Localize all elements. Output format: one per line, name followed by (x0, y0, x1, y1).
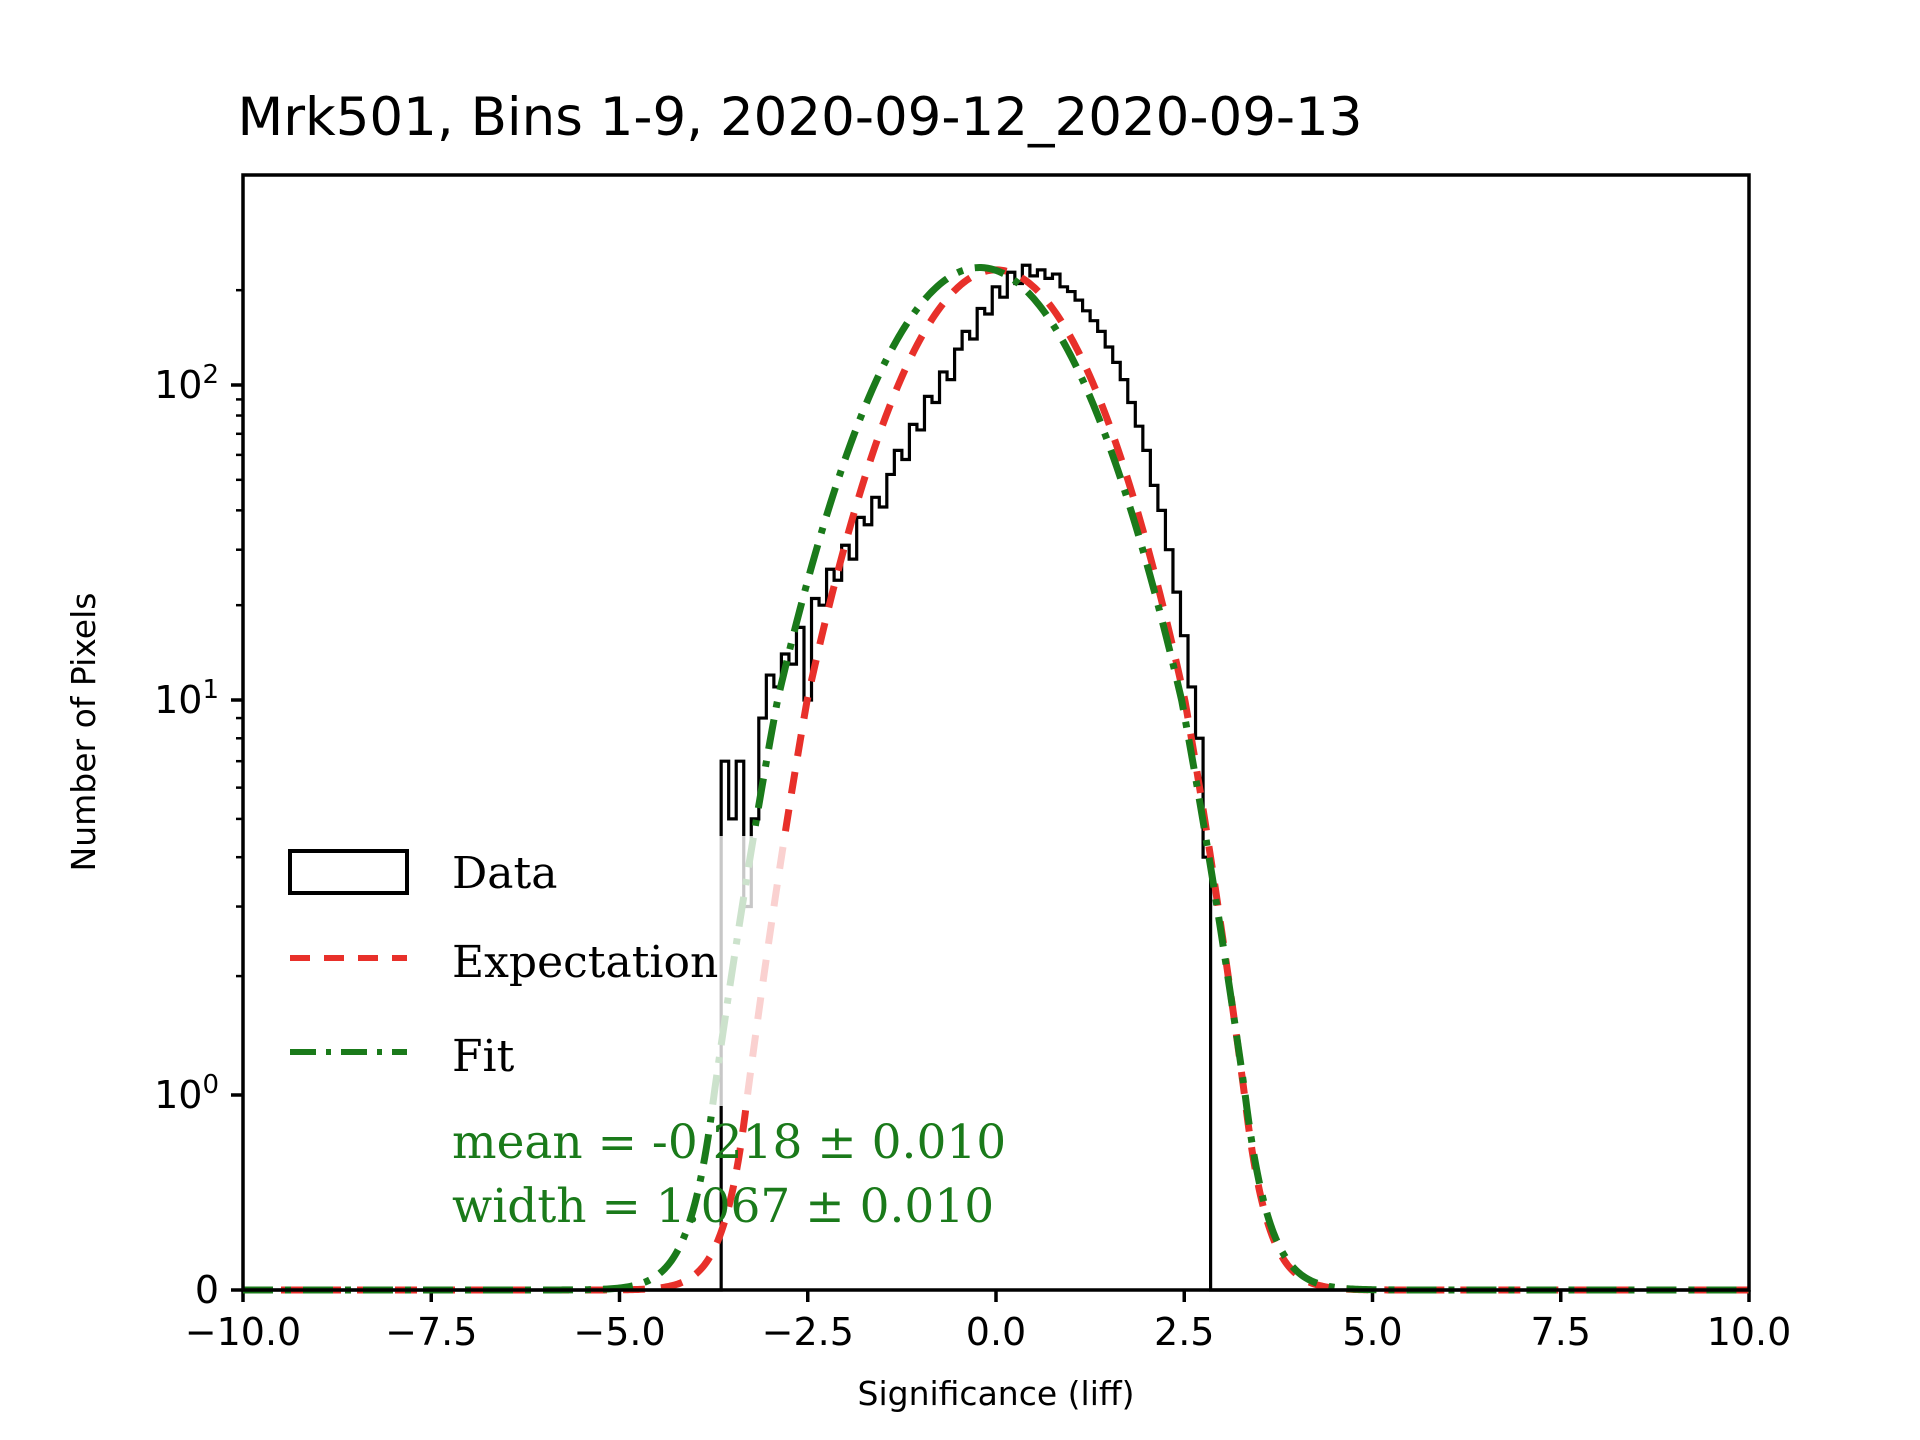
x-axis-ticks: −10.0−7.5−5.0−2.50.02.55.07.510.0 (185, 1290, 1792, 1354)
legend-label-expectation: Expectation (452, 937, 718, 988)
legend-label-data: Data (452, 848, 557, 899)
x-tick-label: −5.0 (573, 1310, 665, 1354)
x-tick-label: 5.0 (1342, 1310, 1402, 1354)
mean-annotation: mean = -0.218 ± 0.010 (452, 1115, 1006, 1170)
y-tick-label: 102 (154, 360, 219, 407)
y-tick-label: 100 (154, 1070, 219, 1117)
y-tick-label: 0 (195, 1268, 219, 1312)
page-title: Mrk501, Bins 1-9, 2020-09-12_2020-09-13 (238, 87, 1363, 148)
legend-label-fit: Fit (452, 1031, 515, 1082)
y-axis-label: Number of Pixels (64, 593, 103, 872)
figure-canvas: Mrk501, Bins 1-9, 2020-09-12_2020-09-13 … (0, 0, 1920, 1440)
x-tick-label: −2.5 (762, 1310, 854, 1354)
x-tick-label: 7.5 (1531, 1310, 1591, 1354)
y-tick-label: 101 (154, 675, 219, 722)
x-tick-label: 0.0 (966, 1310, 1026, 1354)
legend[interactable]: Data Expectation Fit (268, 836, 813, 1106)
x-axis-label: Significance (liff) (858, 1374, 1135, 1413)
x-tick-label: −7.5 (385, 1310, 477, 1354)
x-tick-label: 10.0 (1707, 1310, 1792, 1354)
width-annotation: width = 1.067 ± 0.010 (452, 1179, 994, 1234)
x-tick-label: 2.5 (1154, 1310, 1214, 1354)
x-tick-label: −10.0 (185, 1310, 301, 1354)
y-axis-ticks: 0100101102 (154, 290, 243, 1312)
plot-svg: Mrk501, Bins 1-9, 2020-09-12_2020-09-13 … (0, 0, 1920, 1440)
